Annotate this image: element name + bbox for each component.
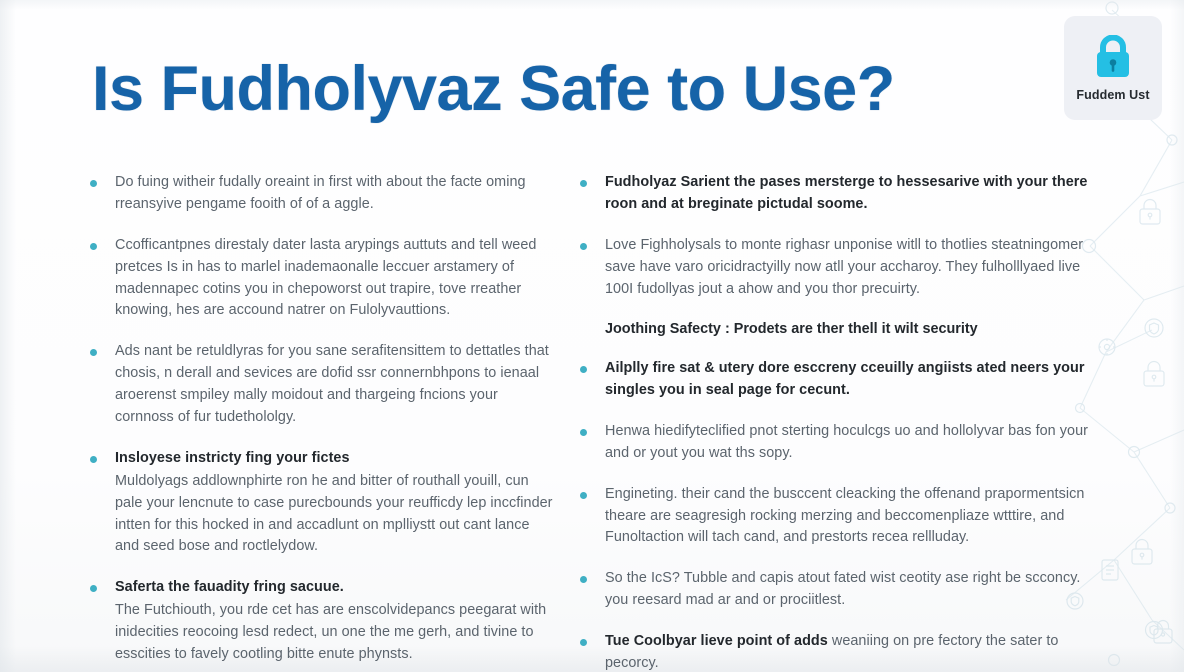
list-item: Do fuing witheir fudally oreaint in firs… <box>86 172 554 216</box>
left-column: Do fuing witheir fudally oreaint in firs… <box>0 172 576 642</box>
list-item: Love Fighholysals to monte righasr unpon… <box>576 235 1106 301</box>
bullet-dot-icon <box>580 576 587 583</box>
list-item-text: Ads nant be retuldlyras for you sane ser… <box>115 341 554 429</box>
list-item: Insloyese instricty fing your fictesMuld… <box>86 448 554 558</box>
list-item: Fudholyaz Sarient the pases mersterge to… <box>576 172 1106 216</box>
page-title: Is Fudholyvaz Safe to Use? <box>92 56 1052 123</box>
bullet-dot-icon <box>90 180 97 187</box>
section-heading: Joothing Safecty : Prodets are ther thel… <box>576 319 1106 341</box>
bullet-dot-icon <box>580 180 587 187</box>
list-item: Ccofficantpnes direstaly dater lasta ary… <box>86 235 554 323</box>
list-item-text: Muldolyags addlownphirte ron he and bitt… <box>115 471 554 559</box>
bullet-dot-icon <box>90 585 97 592</box>
list-item-text: Engineting. their cand the busccent clea… <box>605 484 1106 550</box>
list-item: So the IcS? Tubble and capis atout fated… <box>576 568 1106 612</box>
list-item-text: So the IcS? Tubble and capis atout fated… <box>605 568 1106 612</box>
list-item-lead: Tue Coolbyar lieve point of adds <box>605 633 828 649</box>
list-item: Ads nant be retuldlyras for you sane ser… <box>86 341 554 429</box>
list-item-text: Ailplly fire sat & utery dore esccreny c… <box>605 358 1106 402</box>
list-item: Tue Coolbyar lieve point of adds weaniin… <box>576 631 1106 672</box>
bullet-dot-icon <box>580 492 587 499</box>
right-column: Fudholyaz Sarient the pases mersterge to… <box>576 172 1136 642</box>
bullet-dot-icon <box>580 366 587 373</box>
bullet-dot-icon <box>90 349 97 356</box>
list-item-text: Love Fighholysals to monte righasr unpon… <box>605 235 1106 301</box>
list-item: Ailplly fire sat & utery dore esccreny c… <box>576 358 1106 402</box>
bullet-dot-icon <box>580 639 587 646</box>
bullet-dot-icon <box>580 429 587 436</box>
section-heading-text: Joothing Safecty : Prodets are ther thel… <box>605 319 1106 341</box>
list-item-text: The Futchiouth, you rde cet has are ensc… <box>115 600 554 666</box>
badge-label: Fuddem Ust <box>1076 88 1149 102</box>
list-item-heading: Saferta the fauadity fring sacuue. <box>115 577 554 599</box>
list-item-text: Do fuing witheir fudally oreaint in firs… <box>115 172 554 216</box>
list-item-text: Fudholyaz Sarient the pases mersterge to… <box>605 172 1106 216</box>
list-item-text: Henwa hiedifyteclified pnot sterting hoc… <box>605 421 1106 465</box>
content-columns: Do fuing witheir fudally oreaint in firs… <box>0 172 1184 642</box>
list-item: Henwa hiedifyteclified pnot sterting hoc… <box>576 421 1106 465</box>
list-item-text: Tue Coolbyar lieve point of adds weaniin… <box>605 631 1106 672</box>
title-block: Is Fudholyvaz Safe to Use? <box>92 56 1052 123</box>
list-item: Saferta the fauadity fring sacuue.The Fu… <box>86 577 554 666</box>
bullet-dot-icon <box>90 243 97 250</box>
slide-canvas: Is Fudholyvaz Safe to Use? Fuddem Ust Do… <box>0 0 1184 672</box>
list-item-heading: Insloyese instricty fing your fictes <box>115 448 554 470</box>
list-item-text: Ccofficantpnes direstaly dater lasta ary… <box>115 235 554 323</box>
bullet-dot-icon <box>580 243 587 250</box>
lock-icon <box>1091 35 1135 81</box>
bullet-dot-icon <box>90 456 97 463</box>
list-item: Engineting. their cand the busccent clea… <box>576 484 1106 550</box>
security-badge: Fuddem Ust <box>1064 16 1162 120</box>
